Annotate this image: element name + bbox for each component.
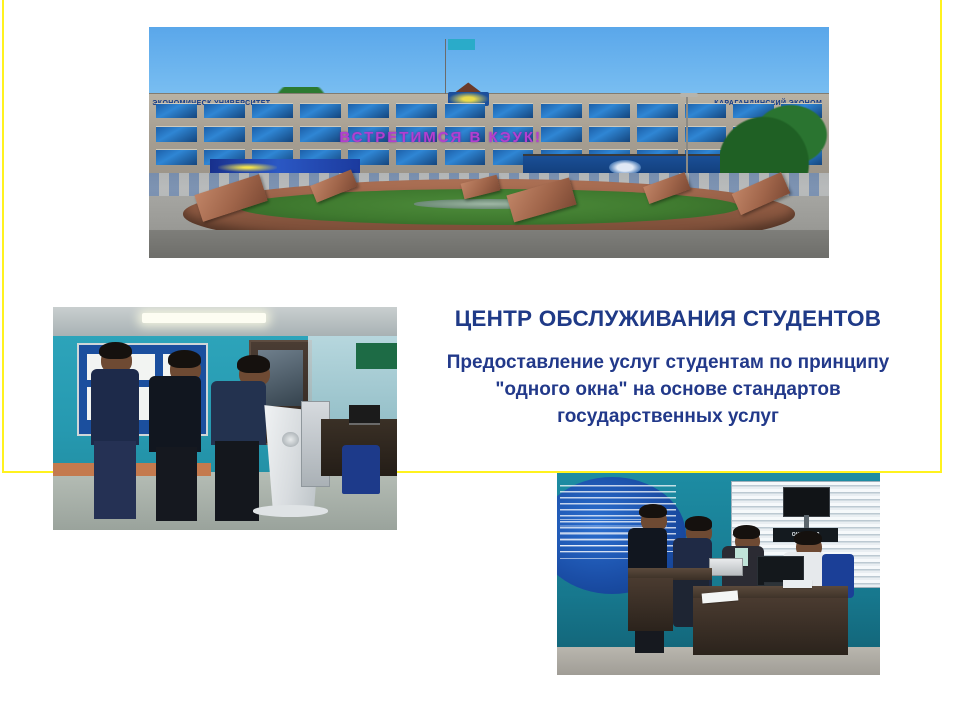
slide-text-block: ЦЕНТР ОБСЛУЖИВАНИЯ СТУДЕНТОВ Предоставле… (398, 306, 938, 431)
student-hair (168, 350, 201, 368)
university-campus-photo: ЭКОНОМИЧЕСК УНИВЕРСИТЕТ КАРАГАНДИНСКИЙ Э… (149, 27, 829, 258)
staff-hair (733, 525, 760, 539)
student-figure (149, 376, 201, 452)
office-chair (342, 445, 380, 494)
staff-hair (794, 531, 821, 545)
flagpole (445, 39, 447, 94)
ceiling-light (142, 313, 266, 323)
name-plate (783, 580, 812, 588)
service-center-desks-photo: ОКНО № 2 (557, 473, 880, 675)
visitor-hair (639, 504, 666, 518)
student-hair (237, 355, 270, 373)
presentation-slide: ЭКОНОМИЧЕСК УНИВЕРСИТЕТ КАРАГАНДИНСКИЙ Э… (0, 0, 960, 720)
desk-monitor (349, 405, 380, 425)
printer (709, 558, 743, 576)
frame-right-border (940, 0, 942, 473)
side-desk-front (628, 578, 673, 631)
student-hair (99, 342, 132, 360)
students-self-service-kiosk-photo (53, 307, 397, 530)
street-lamp (686, 96, 688, 184)
student-legs (156, 447, 197, 521)
visitor-hair (685, 516, 712, 530)
kiosk-base (253, 505, 329, 516)
wall-tv-screen (783, 487, 830, 517)
slide-subtitle: Предоставление услуг студентам по принци… (398, 350, 938, 431)
student-figure (91, 369, 139, 445)
student-legs (94, 441, 135, 519)
frame-left-border (2, 0, 4, 473)
page-title: ЦЕНТР ОБСЛУЖИВАНИЯ СТУДЕНТОВ (398, 306, 938, 332)
facade-slogan-banner: ВСТРЕТИМСЯ В КЭУК! (339, 129, 542, 146)
wall-screen (356, 343, 397, 370)
kazakh-flag (448, 39, 475, 51)
student-figure (211, 381, 266, 446)
service-desk-front (693, 598, 848, 655)
foreground-pavement (149, 230, 829, 258)
